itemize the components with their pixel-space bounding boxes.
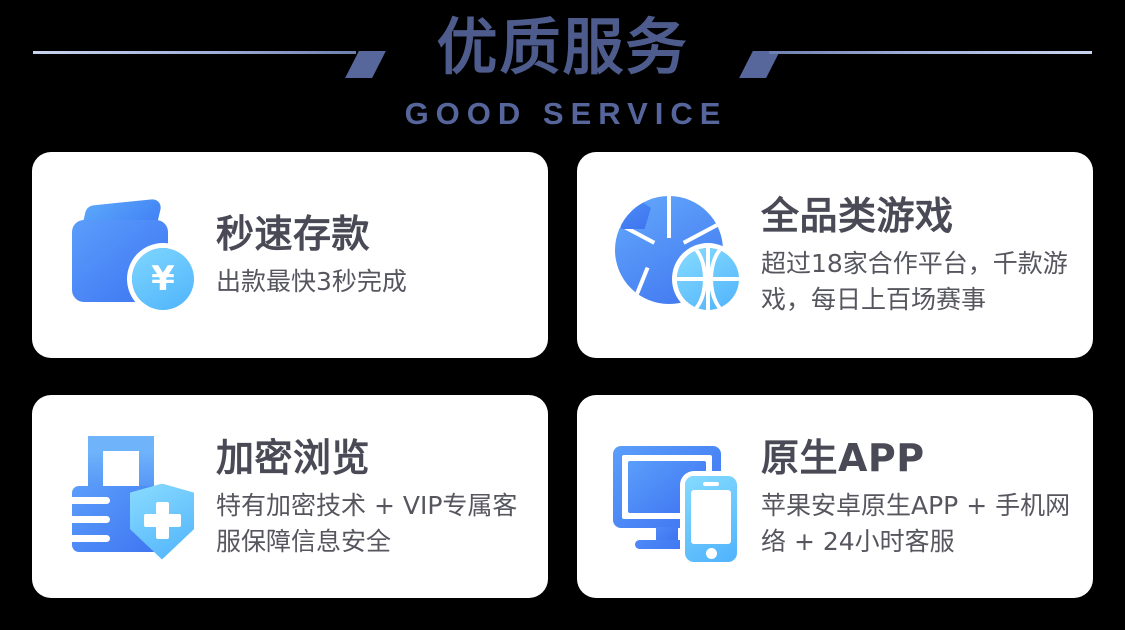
soccer-pentagon xyxy=(615,196,651,229)
banner-header: 优质服务 GOOD SERVICE xyxy=(0,0,1125,145)
card-title: 全品类游戏 xyxy=(761,192,1083,240)
feature-card-deposit[interactable]: ¥ 秒速存款 出款最快3秒完成 xyxy=(32,152,548,358)
feature-card-text: 加密浏览 特有加密技术 + VIP专属客服保障信息安全 xyxy=(202,434,548,560)
cross-icon xyxy=(144,514,181,527)
card-description: 苹果安卓原生APP + 手机网络 + 24小时客服 xyxy=(761,488,1083,560)
card-description: 特有加密技术 + VIP专属客服保障信息安全 xyxy=(216,488,538,560)
card-description: 超过18家合作平台，千款游戏，每日上百场赛事 xyxy=(761,246,1083,318)
lock-shield-icon xyxy=(64,428,202,566)
feature-card-native-app[interactable]: 原生APP 苹果安卓原生APP + 手机网络 + 24小时客服 xyxy=(577,395,1093,598)
lock-slot xyxy=(72,535,110,542)
wallet-yen-icon: ¥ xyxy=(64,186,202,324)
card-title: 加密浏览 xyxy=(216,434,538,482)
monitor-phone-icon xyxy=(609,428,747,566)
smartphone-home-button xyxy=(706,548,717,559)
feature-card-games[interactable]: 全品类游戏 超过18家合作平台，千款游戏，每日上百场赛事 xyxy=(577,152,1093,358)
card-title: 秒速存款 xyxy=(216,210,538,258)
feature-card-grid: ¥ 秒速存款 出款最快3秒完成 xyxy=(32,152,1093,598)
feature-card-text: 原生APP 苹果安卓原生APP + 手机网络 + 24小时客服 xyxy=(747,434,1093,560)
feature-card-encryption[interactable]: 加密浏览 特有加密技术 + VIP专属客服保障信息安全 xyxy=(32,395,548,598)
lock-slot xyxy=(72,497,110,504)
yen-coin-icon: ¥ xyxy=(132,248,194,310)
page-title: 优质服务 xyxy=(0,8,1125,88)
page-subtitle: GOOD SERVICE xyxy=(0,96,1125,132)
basketball-arc xyxy=(677,248,707,310)
basketball-icon xyxy=(677,248,739,310)
soccer-seam xyxy=(667,196,671,238)
lock-slot xyxy=(72,516,110,523)
feature-card-text: 全品类游戏 超过18家合作平台，千款游戏，每日上百场赛事 xyxy=(747,192,1093,318)
smartphone-speaker xyxy=(703,482,719,486)
soccer-basketball-icon xyxy=(609,186,747,324)
soccer-seam xyxy=(629,267,650,304)
card-title: 原生APP xyxy=(761,434,1083,482)
feature-card-text: 秒速存款 出款最快3秒完成 xyxy=(202,210,548,300)
promo-banner: 优质服务 GOOD SERVICE ¥ 秒速存款 出款最快3秒完成 xyxy=(0,0,1125,630)
basketball-arc xyxy=(709,248,739,310)
smartphone-screen xyxy=(691,490,731,544)
soccer-seam xyxy=(704,199,721,225)
card-description: 出款最快3秒完成 xyxy=(216,264,538,300)
